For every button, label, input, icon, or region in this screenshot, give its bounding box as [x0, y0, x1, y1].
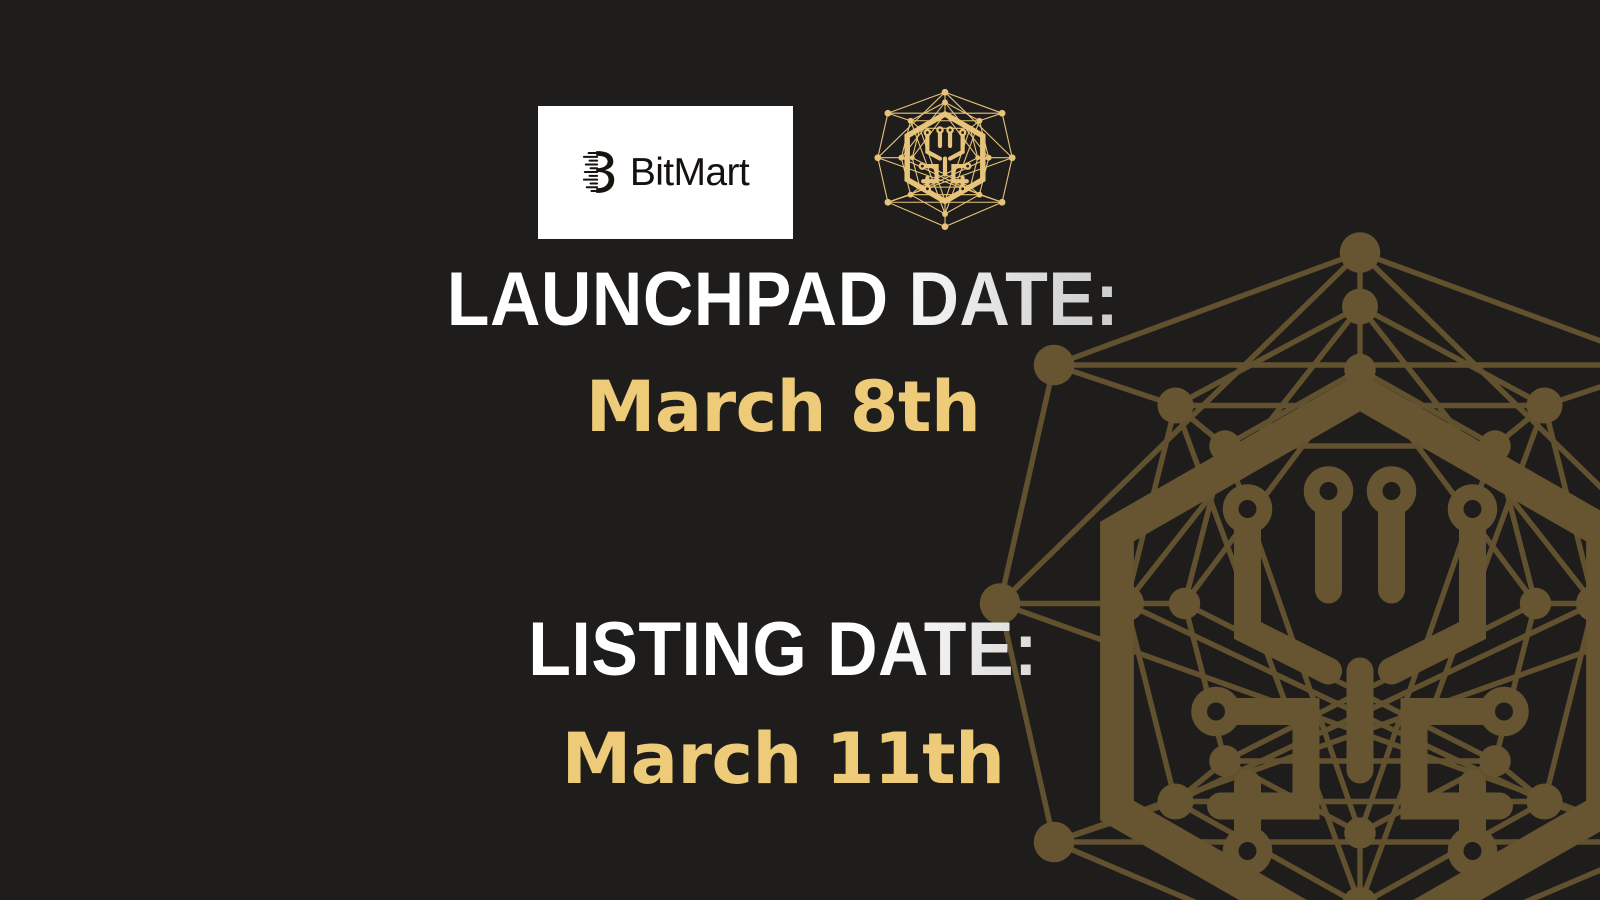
bitmart-b-icon	[581, 149, 619, 195]
logo-row: BitMart	[0, 88, 1566, 256]
bitmart-logo-card: BitMart	[538, 106, 793, 239]
announcement-banner: BitMart	[0, 0, 1600, 900]
bitmart-wordmark: BitMart	[630, 153, 749, 192]
launchpad-date-value: March 8th	[0, 372, 1566, 442]
announcement-content: LAUNCHPAD DATE: March 8th LISTING DATE: …	[0, 262, 1566, 794]
launchpad-date-label: LAUNCHPAD DATE:	[63, 262, 1504, 338]
listing-date-label: LISTING DATE:	[63, 612, 1504, 688]
listing-date-value: March 11th	[0, 724, 1566, 794]
hexagon-circuit-mandala-icon	[861, 88, 1029, 256]
